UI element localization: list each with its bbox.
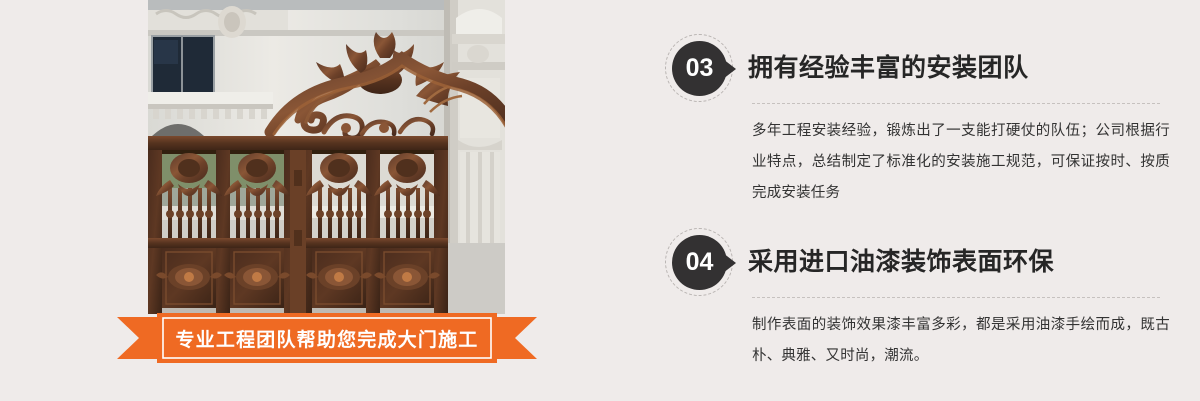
feature-header-04: 04 采用进口油漆装饰表面环保 [660, 228, 1200, 298]
feature-item-04: 04 采用进口油漆装饰表面环保 制作表面的装饰效果漆丰富多彩，都是采用油漆手绘而… [660, 228, 1200, 298]
feature-item-03: 03 拥有经验丰富的安装团队 多年工程安装经验，锻炼出了一支能打硬仗的队伍；公司… [660, 34, 1200, 104]
badge-circle-03: 03 [672, 41, 727, 96]
step-badge-04: 04 [665, 228, 737, 300]
feature-header-03: 03 拥有经验丰富的安装团队 [660, 34, 1200, 104]
badge-number-04: 04 [686, 250, 714, 275]
feature-list: 03 拥有经验丰富的安装团队 多年工程安装经验，锻炼出了一支能打硬仗的队伍；公司… [660, 0, 1200, 401]
step-badge-03: 03 [665, 34, 737, 106]
badge-pointer-triangle-icon [723, 253, 736, 273]
feature-divider-03 [752, 103, 1160, 104]
ribbon-shape [117, 313, 537, 363]
gate-photo [148, 0, 505, 314]
promo-banner: 专业工程团队帮助您完成大门施工 03 拥有经验丰富的安装团队 多年工程安装经验，… [0, 0, 1200, 401]
feature-title-04: 采用进口油漆装饰表面环保 [748, 242, 1054, 278]
badge-pointer-triangle-icon [723, 59, 736, 79]
badge-number-03: 03 [686, 56, 714, 81]
gate-photo-illustration [148, 0, 505, 314]
feature-title-03: 拥有经验丰富的安装团队 [748, 48, 1029, 84]
feature-body-04: 制作表面的装饰效果漆丰富多彩，都是采用油漆手绘而成，既古朴、典雅、又时尚，潮流。 [752, 310, 1170, 372]
feature-divider-04 [752, 297, 1160, 298]
feature-body-03: 多年工程安装经验，锻炼出了一支能打硬仗的队伍；公司根据行业特点，总结制定了标准化… [752, 116, 1170, 209]
badge-circle-04: 04 [672, 235, 727, 290]
ribbon-banner [117, 313, 537, 363]
